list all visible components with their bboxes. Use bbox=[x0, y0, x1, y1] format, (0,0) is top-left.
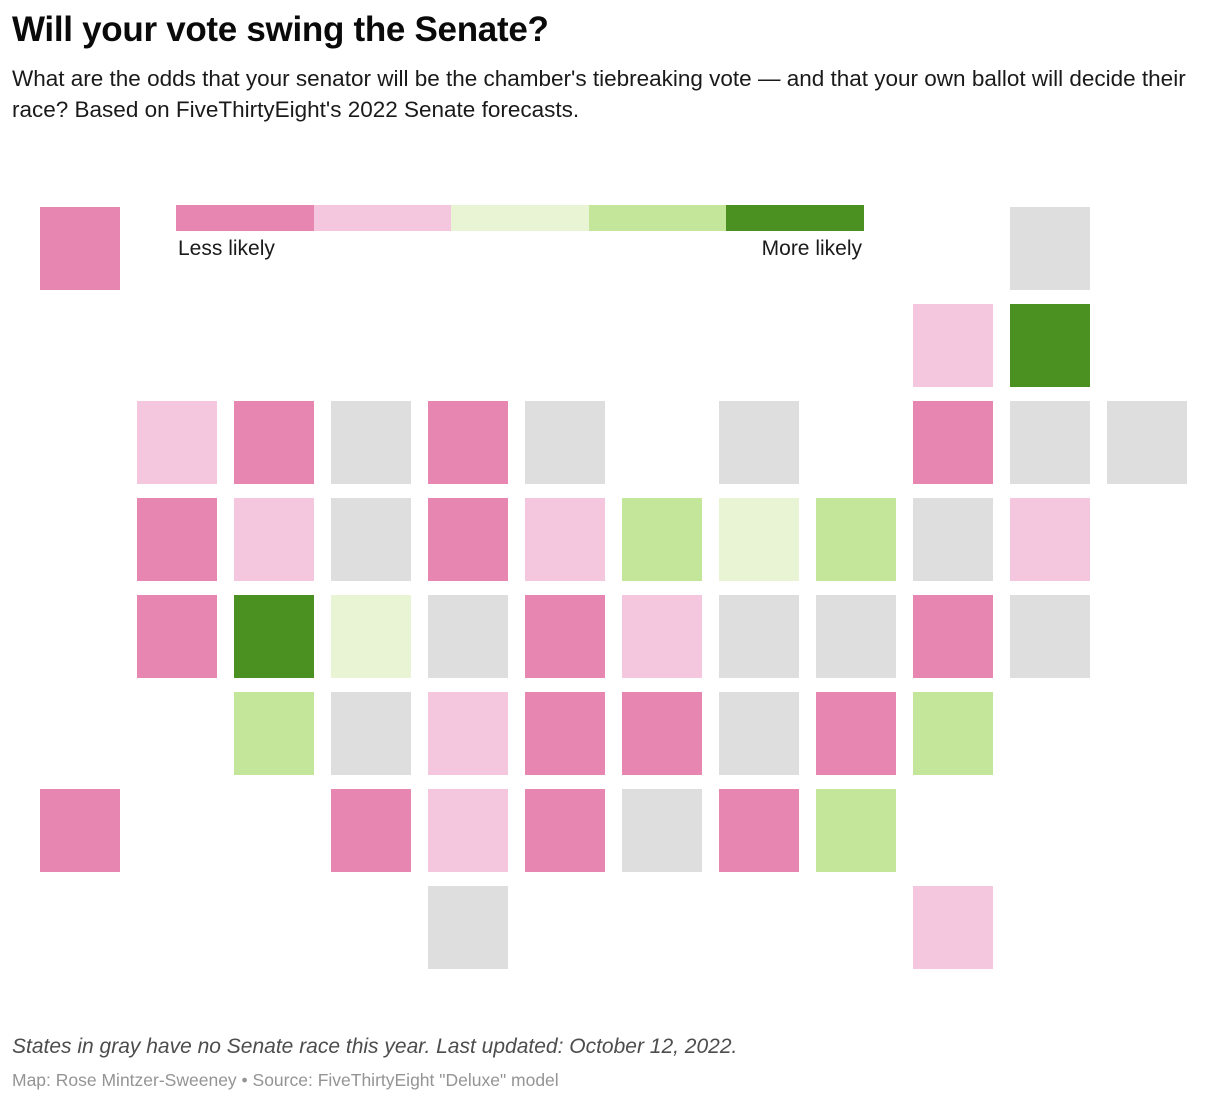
state-tile-ak[interactable] bbox=[40, 207, 120, 290]
footnote-text: States in gray have no Senate race this … bbox=[12, 1034, 1208, 1060]
state-tile-ks[interactable] bbox=[428, 692, 508, 775]
state-tile-tn[interactable] bbox=[622, 692, 702, 775]
state-tile-sc[interactable] bbox=[913, 692, 993, 775]
state-tile-tx[interactable] bbox=[428, 886, 508, 969]
state-tile-az[interactable] bbox=[234, 692, 314, 775]
state-tile-nj[interactable] bbox=[1010, 498, 1090, 581]
state-tile-oh[interactable] bbox=[816, 498, 896, 581]
state-tile-ok[interactable] bbox=[331, 789, 411, 872]
state-tile-ma[interactable] bbox=[1010, 401, 1090, 484]
state-tile-me[interactable] bbox=[1010, 207, 1090, 290]
state-tile-fl[interactable] bbox=[816, 789, 896, 872]
state-tile-ne[interactable] bbox=[428, 595, 508, 678]
state-tile-il[interactable] bbox=[622, 595, 702, 678]
footer: States in gray have no Senate race this … bbox=[12, 1034, 1208, 1092]
state-tile-ga[interactable] bbox=[719, 789, 799, 872]
state-tile-mn[interactable] bbox=[525, 401, 605, 484]
state-tile-la[interactable] bbox=[428, 789, 508, 872]
state-tile-md[interactable] bbox=[913, 595, 993, 678]
state-tile-va[interactable] bbox=[719, 692, 799, 775]
state-tile-nc[interactable] bbox=[816, 692, 896, 775]
state-tile-ct[interactable] bbox=[913, 886, 993, 969]
state-tile-id[interactable] bbox=[234, 401, 314, 484]
state-tile-in[interactable] bbox=[719, 498, 799, 581]
state-tile-ms[interactable] bbox=[525, 789, 605, 872]
state-tile-ut[interactable] bbox=[234, 595, 314, 678]
senate-swing-map-page: Will your vote swing the Senate? What ar… bbox=[0, 0, 1220, 1110]
state-tile-nd[interactable] bbox=[428, 401, 508, 484]
state-tile-ri[interactable] bbox=[1107, 401, 1187, 484]
state-tile-wa[interactable] bbox=[137, 401, 217, 484]
state-tile-nh[interactable] bbox=[1010, 304, 1090, 387]
credit-text: Map: Rose Mintzer-Sweeney • Source: Five… bbox=[12, 1070, 1208, 1092]
state-tile-wi[interactable] bbox=[622, 498, 702, 581]
state-tile-nm[interactable] bbox=[331, 692, 411, 775]
state-tile-co[interactable] bbox=[331, 595, 411, 678]
state-tile-ar[interactable] bbox=[525, 692, 605, 775]
state-tile-ky[interactable] bbox=[719, 595, 799, 678]
state-tile-hi[interactable] bbox=[40, 789, 120, 872]
state-tile-mt[interactable] bbox=[331, 401, 411, 484]
state-tile-or[interactable] bbox=[137, 498, 217, 581]
state-tile-cartogram bbox=[0, 0, 1220, 1010]
state-tile-ca[interactable] bbox=[137, 595, 217, 678]
state-tile-ia[interactable] bbox=[525, 498, 605, 581]
state-tile-mo[interactable] bbox=[525, 595, 605, 678]
state-tile-de[interactable] bbox=[1010, 595, 1090, 678]
state-tile-mi[interactable] bbox=[719, 401, 799, 484]
state-tile-wv[interactable] bbox=[816, 595, 896, 678]
state-tile-ny[interactable] bbox=[913, 401, 993, 484]
state-tile-sd[interactable] bbox=[428, 498, 508, 581]
state-tile-vt[interactable] bbox=[913, 304, 993, 387]
state-tile-wy[interactable] bbox=[331, 498, 411, 581]
state-tile-nv[interactable] bbox=[234, 498, 314, 581]
state-tile-pa[interactable] bbox=[913, 498, 993, 581]
state-tile-al[interactable] bbox=[622, 789, 702, 872]
